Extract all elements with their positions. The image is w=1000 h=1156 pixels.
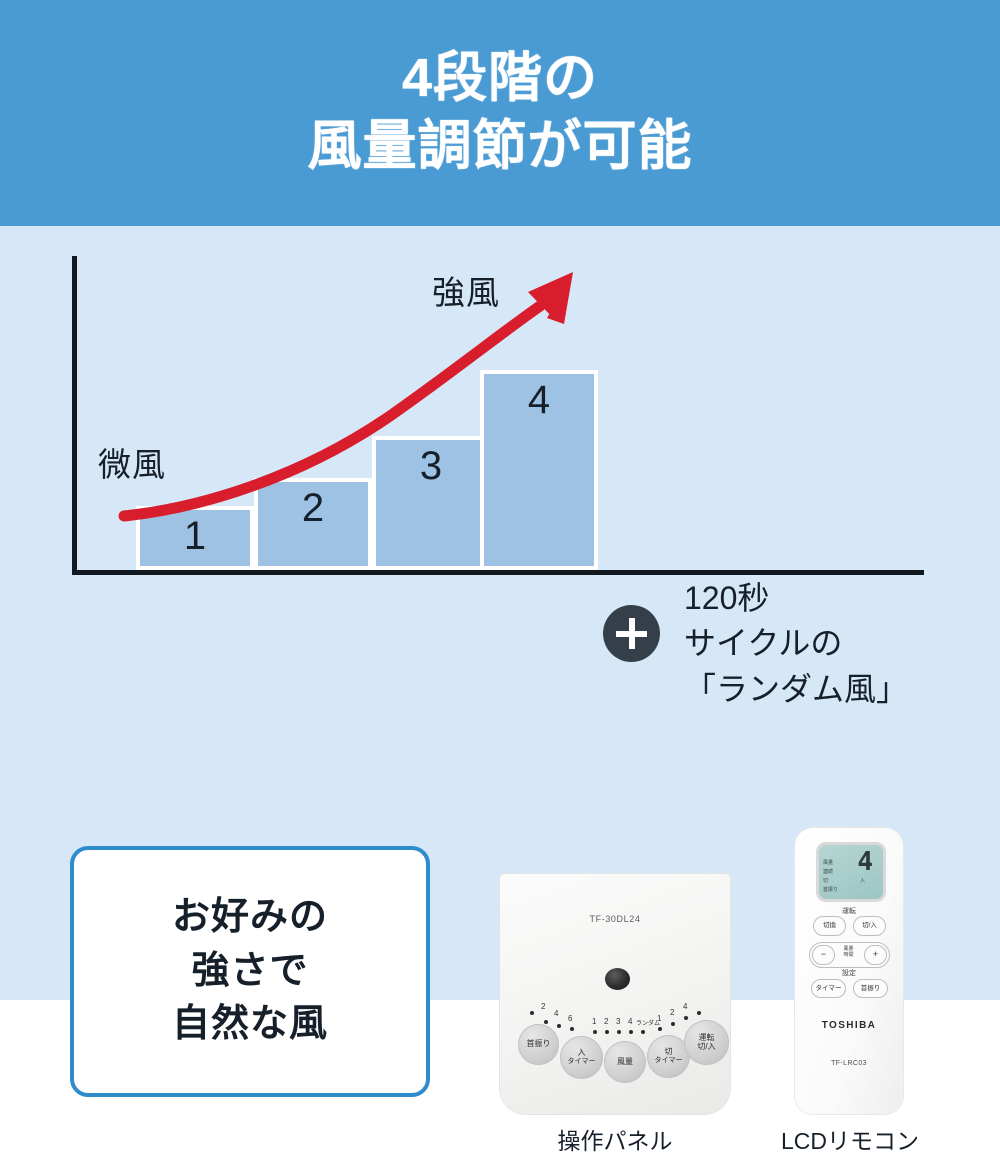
panel-button-wind-volume[interactable]: 風量 <box>604 1041 646 1083</box>
remote-button-mode[interactable]: 切換 <box>813 916 846 936</box>
remote-brand-logo: TOSHIBA <box>795 1020 903 1031</box>
random-wind-line2: サイクルの <box>684 621 984 666</box>
remote-button-plus[interactable]: + <box>864 945 887 965</box>
panel-button-swing[interactable]: 首振り <box>518 1024 559 1065</box>
header-title-line2: 風量調節が可能 <box>308 114 693 180</box>
remote-button-minus[interactable]: − <box>812 945 835 965</box>
remote-button-power[interactable]: 切/入 <box>853 916 886 936</box>
remote-button-power-label: 切/入 <box>862 922 877 929</box>
led-label-on-2: 2 <box>541 1002 545 1011</box>
remote-lcd-label-continuous: 連続 <box>823 868 833 875</box>
airflow-bar-chart: 1 2 3 4 微風 強風 <box>0 226 1000 596</box>
panel-button-off-timer-label2: タイマー <box>655 1057 683 1065</box>
led-label-wind-4: 4 <box>628 1017 632 1026</box>
remote-lcd-label-off: 切 <box>823 877 828 884</box>
remote-adjust-center-label: 風量 時間 <box>835 946 862 959</box>
led-label-on-4: 4 <box>554 1009 558 1018</box>
led-indicator <box>557 1024 561 1028</box>
led-indicator <box>697 1011 701 1015</box>
led-indicator <box>658 1027 662 1031</box>
panel-button-off-timer-label1: 切 <box>665 1048 673 1057</box>
led-label-off-4: 4 <box>683 1002 687 1011</box>
panel-button-power-label2: 切/入 <box>697 1043 715 1052</box>
control-panel-knob[interactable] <box>605 968 630 990</box>
led-indicator <box>544 1020 548 1024</box>
led-indicator <box>530 1011 534 1015</box>
remote-group-label-setting: 設定 <box>795 968 903 978</box>
content-area: 1 2 3 4 微風 強風 120秒 サ <box>0 226 1000 1000</box>
remote-lcd-label-swing: 首振り <box>823 886 838 893</box>
plus-icon <box>603 605 660 662</box>
random-wind-feature-text: 120秒 サイクルの 「ランダム風」 <box>684 576 984 712</box>
promo-callout-box: お好みの 強さで 自然な風 <box>70 846 430 1097</box>
remote-model-label: TF-LRC03 <box>795 1060 903 1067</box>
random-wind-line3: 「ランダム風」 <box>684 667 984 712</box>
remote-adjust-label-line2: 時間 <box>843 952 853 958</box>
remote-adjust-label-line1: 風量 <box>843 946 853 952</box>
remote-caption: LCDリモコン <box>770 1122 930 1156</box>
control-panel-model-label: TF-30DL24 <box>500 914 730 924</box>
promo-text: お好みの 強さで 自然な風 <box>172 891 328 1053</box>
led-label-wind-3: 3 <box>616 1017 620 1026</box>
led-indicator <box>605 1030 609 1034</box>
remote-button-swing[interactable]: 首振り <box>853 979 888 998</box>
remote-lcd-screen: 4 風量 連続 切 入 首振り <box>816 842 886 902</box>
led-indicator <box>629 1030 633 1034</box>
growth-arrow-icon <box>0 226 1000 596</box>
random-wind-line1: 120秒 <box>684 576 984 621</box>
led-indicator <box>593 1030 597 1034</box>
remote-button-timer-label: タイマー <box>816 985 842 992</box>
led-label-off-2: 2 <box>670 1008 674 1017</box>
led-label-wind-1: 1 <box>592 1017 596 1026</box>
remote-button-mode-label: 切換 <box>823 922 836 929</box>
plus-icon-vertical-bar <box>629 618 635 649</box>
header-banner: 4段階の 風量調節が可能 <box>0 0 1000 226</box>
led-indicator <box>671 1022 675 1026</box>
remote-lcd-label-wind: 風量 <box>823 859 833 866</box>
control-panel-image: TF-30DL24 2 4 6 1 2 3 4 ランダム 1 2 <box>500 874 730 1114</box>
header-title-line1: 4段階の <box>402 46 598 112</box>
remote-lcd-label-on: 入 <box>860 877 865 884</box>
panel-button-on-timer[interactable]: 入 タイマー <box>560 1036 603 1079</box>
remote-button-timer[interactable]: タイマー <box>811 979 846 998</box>
lcd-remote-image: 4 風量 連続 切 入 首振り 運転 切換 切/入 − 風量 時間 <box>795 828 903 1114</box>
remote-lcd-value: 4 <box>857 847 873 877</box>
led-indicator <box>641 1030 645 1034</box>
promo-line2: 強さで <box>172 945 328 999</box>
promo-line3: 自然な風 <box>172 998 328 1052</box>
led-label-wind-2: 2 <box>604 1017 608 1026</box>
panel-button-power[interactable]: 運転 切/入 <box>684 1020 729 1065</box>
panel-button-on-timer-label2: タイマー <box>568 1058 596 1066</box>
control-panel-caption: 操作パネル <box>500 1122 730 1156</box>
panel-button-power-label1: 運転 <box>699 1034 715 1043</box>
led-label-on-6: 6 <box>568 1014 572 1023</box>
led-indicator <box>570 1027 574 1031</box>
remote-button-plus-label: + <box>873 950 878 960</box>
remote-group-label-operate: 運転 <box>795 906 903 916</box>
remote-button-minus-label: − <box>821 950 826 960</box>
page-root: 4段階の 風量調節が可能 1 2 3 4 微風 強風 <box>0 0 1000 1000</box>
promo-line1: お好みの <box>172 891 328 945</box>
panel-button-on-timer-label1: 入 <box>578 1049 586 1058</box>
led-indicator <box>684 1016 688 1020</box>
panel-button-wind-volume-label: 風量 <box>617 1058 633 1067</box>
led-indicator <box>617 1030 621 1034</box>
led-label-off-1: 1 <box>657 1014 661 1023</box>
remote-button-swing-label: 首振り <box>861 985 881 992</box>
panel-button-swing-label: 首振り <box>527 1040 551 1049</box>
